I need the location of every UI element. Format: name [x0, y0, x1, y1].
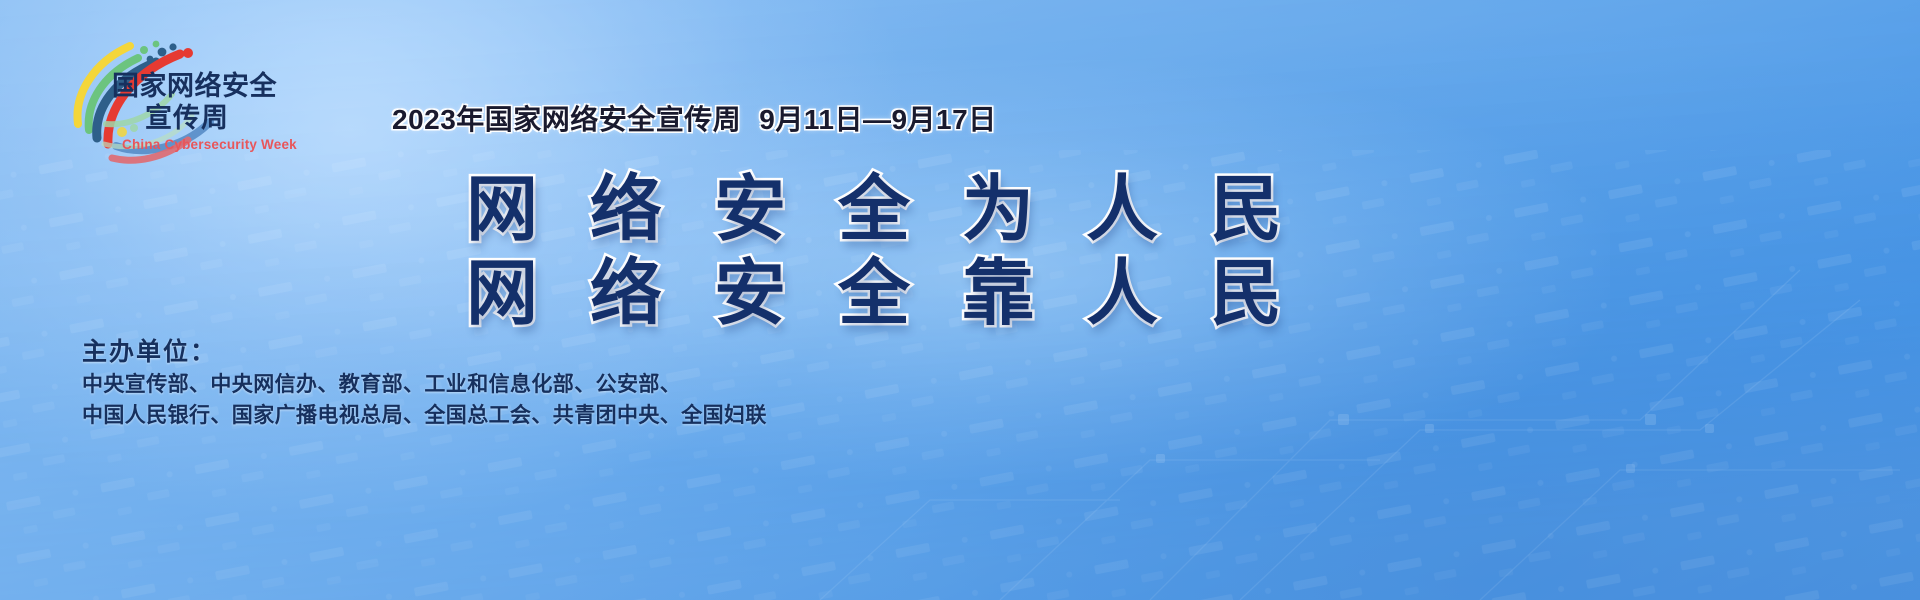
organizers-line-1: 中央宣传部、中央网信办、教育部、工业和信息化部、公安部、 — [82, 369, 767, 400]
organizers-block: 主办单位： 中央宣传部、中央网信办、教育部、工业和信息化部、公安部、 中国人民银… — [82, 335, 767, 431]
logo-name-line2: 宣传周 — [145, 105, 229, 132]
slogan-line-1: 网 络 安 全 为 人 民 — [466, 168, 1126, 252]
event-title: 2023年国家网络安全宣传周 — [392, 104, 741, 135]
organizers-title: 主办单位： — [82, 335, 767, 369]
event-dates: 9月11日—9月17日 — [759, 104, 996, 135]
slogan-line-2: 网 络 安 全 靠 人 民 — [466, 252, 1126, 336]
logo-english-name: China Cybersecurity Week — [122, 138, 297, 152]
china-cybersecurity-week-logo: 国家网络安全 宣传周 China Cybersecurity Week — [60, 28, 310, 168]
main-slogan: 网 络 安 全 为 人 民 网 络 安 全 靠 人 民 — [466, 168, 1126, 336]
organizers-line-2: 中国人民银行、国家广播电视总局、全国总工会、共青团中央、全国妇联 — [82, 400, 767, 431]
cybersecurity-week-banner: 国家网络安全 宣传周 China Cybersecurity Week 2023… — [0, 0, 1920, 600]
event-header: 2023年国家网络安全宣传周9月11日—9月17日 — [392, 98, 997, 138]
logo-name-line1: 国家网络安全 — [112, 73, 277, 100]
